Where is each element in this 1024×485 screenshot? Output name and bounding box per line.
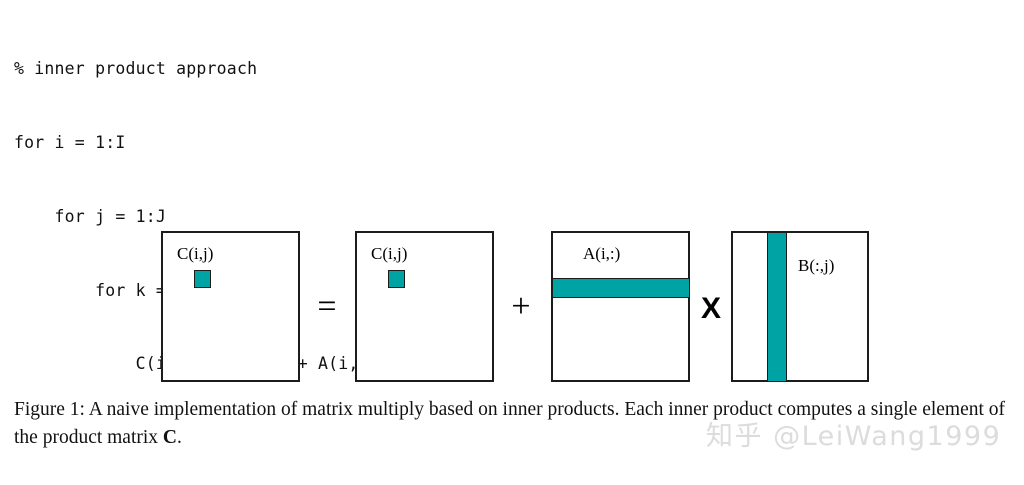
highlight-row-a bbox=[553, 278, 689, 298]
matrix-c-operand-label: C(i,j) bbox=[371, 245, 407, 262]
code-line: % inner product approach bbox=[14, 57, 994, 82]
figure-caption-matrix-symbol: C bbox=[163, 427, 177, 448]
operator-times: X bbox=[696, 294, 726, 324]
highlight-cell-c-operand bbox=[388, 270, 405, 288]
matrix-b-operand-label: B(:,j) bbox=[798, 257, 834, 274]
figure-caption-prefix: Figure 1: bbox=[14, 399, 85, 420]
code-line: for i = 1:I bbox=[14, 131, 994, 156]
matrix-b-operand: B(:,j) bbox=[731, 231, 869, 382]
operator-plus: + bbox=[506, 292, 536, 322]
operator-equals: = bbox=[312, 292, 342, 322]
highlight-cell-c-result bbox=[194, 270, 211, 288]
matrix-c-result: C(i,j) bbox=[161, 231, 300, 382]
matrix-multiply-diagram: C(i,j) = C(i,j) + A(i,:) X B(:,j) bbox=[0, 215, 1024, 380]
matrix-c-result-label: C(i,j) bbox=[177, 245, 213, 262]
matrix-c-operand: C(i,j) bbox=[355, 231, 494, 382]
figure-caption-suffix: . bbox=[177, 427, 182, 448]
highlight-column-b bbox=[767, 233, 787, 381]
watermark: 知乎 @LeiWang1999 bbox=[706, 421, 1001, 453]
matrix-a-operand-label: A(i,:) bbox=[583, 245, 620, 262]
matrix-a-operand: A(i,:) bbox=[551, 231, 690, 382]
